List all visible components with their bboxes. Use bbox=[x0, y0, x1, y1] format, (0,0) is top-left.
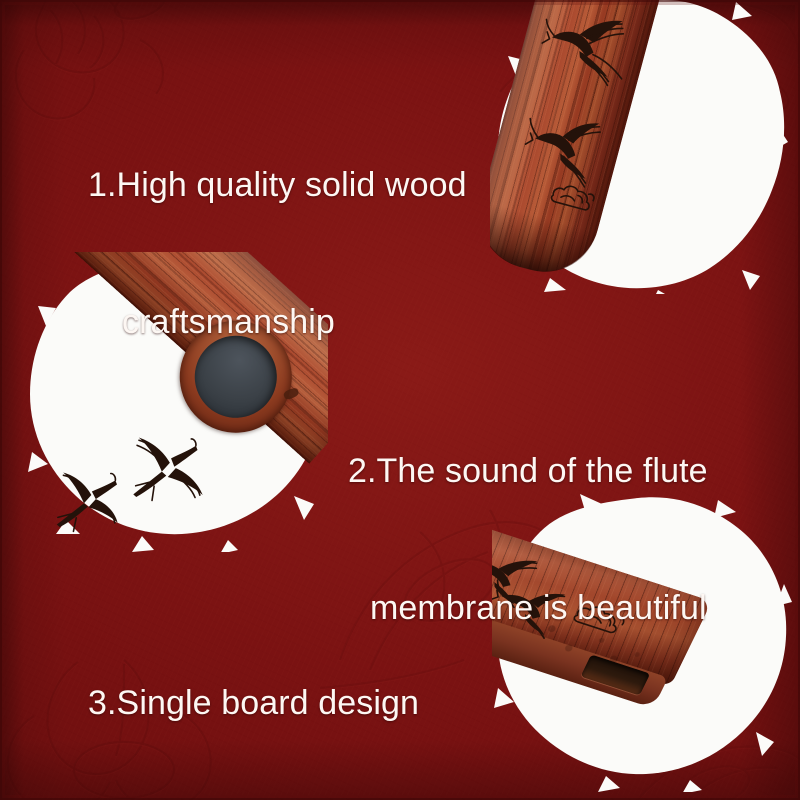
product-feature-banner: 1.High quality solid wood craftsmanship … bbox=[0, 0, 800, 800]
feature-2-line-1: 2.The sound of the flute bbox=[348, 449, 708, 495]
feature-1-line-1: 1.High quality solid wood bbox=[88, 163, 467, 209]
feature-3-line-1: 3.Single board design bbox=[88, 681, 468, 727]
feature-caption-3: 3.Single board design Exquisite workmans… bbox=[88, 590, 468, 800]
crane-engraving-icon bbox=[29, 444, 144, 552]
photo-flute-body-cranes bbox=[490, 0, 790, 294]
feature-1-line-2: craftsmanship bbox=[88, 300, 467, 346]
photo-clip-1 bbox=[490, 0, 790, 294]
